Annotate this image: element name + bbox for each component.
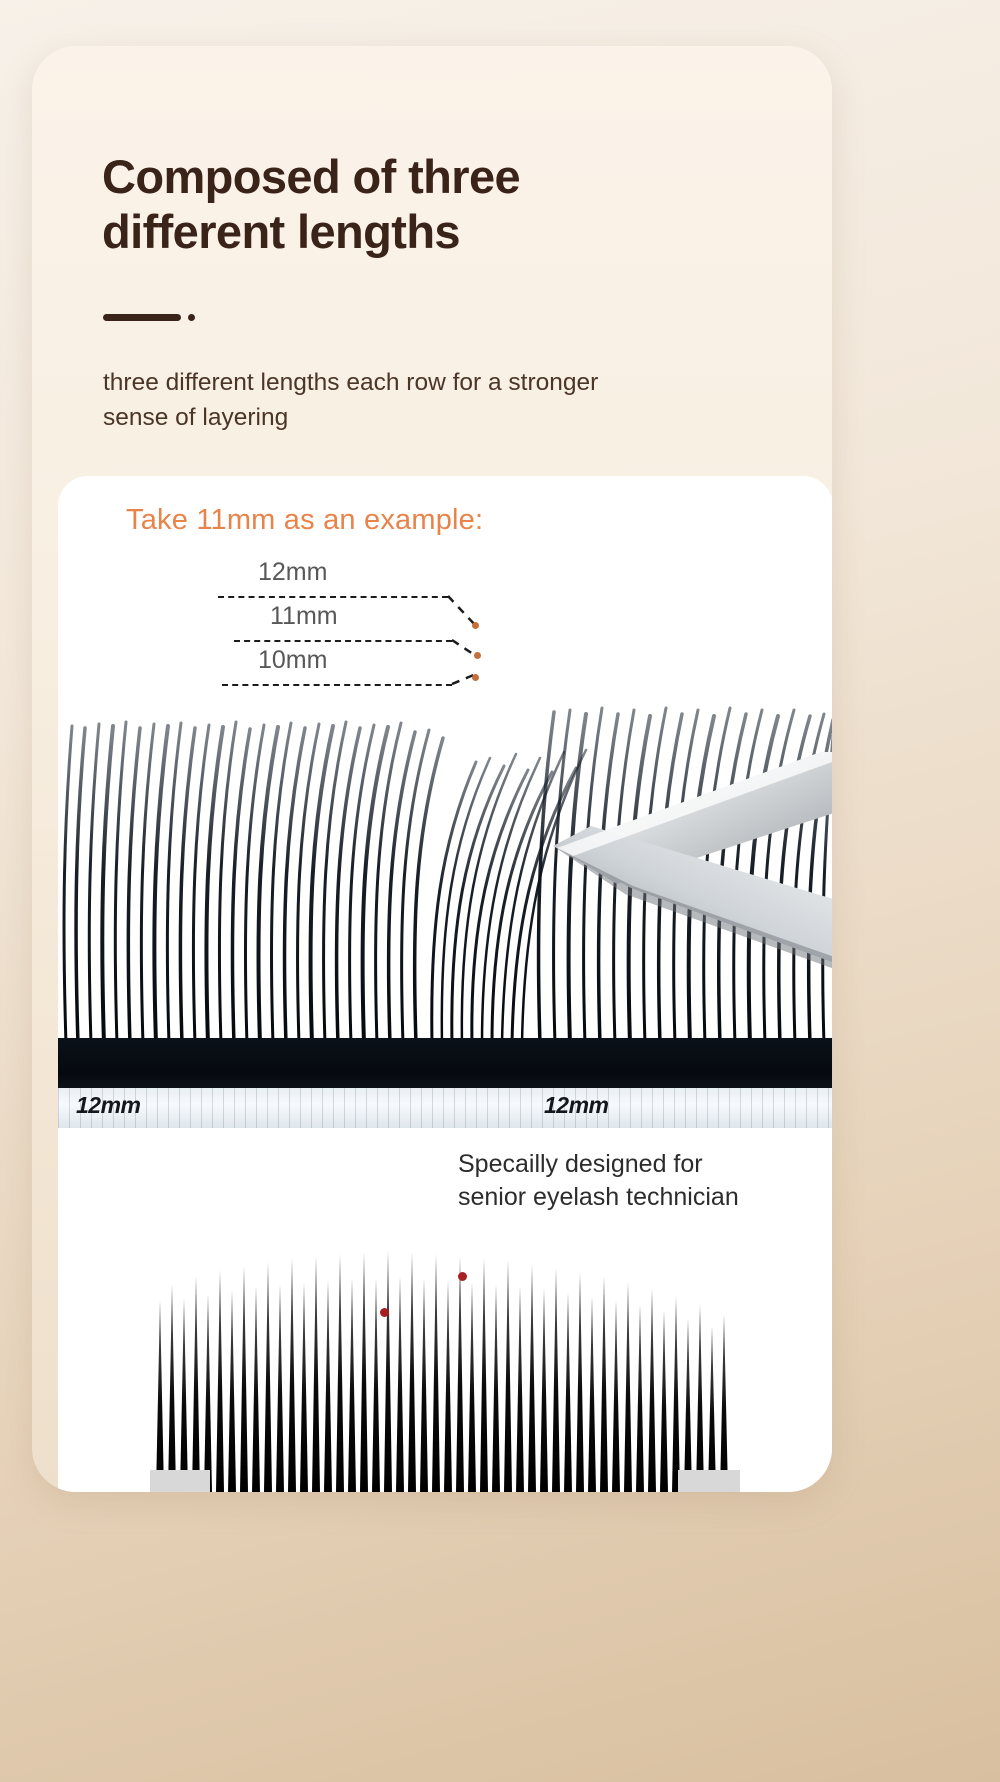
lash-marker-dot-1 — [380, 1308, 389, 1317]
measure-marker-dot-1 — [472, 622, 479, 629]
measure-marker-dot-2 — [474, 652, 481, 659]
measure-dash-10mm — [222, 684, 452, 686]
measure-connector-lines — [430, 582, 550, 722]
heading-line-1: Composed of three — [102, 150, 520, 203]
measurement-annotations: 12mm 11mm 10mm — [58, 562, 832, 702]
subtitle-text: three different lengths each row for a s… — [103, 366, 723, 436]
caption-line-1: Specailly designed for — [458, 1150, 703, 1178]
measure-label-12mm: 12mm — [258, 558, 327, 587]
ruler-label-left: 12mm — [76, 1092, 140, 1119]
measure-dash-11mm — [234, 640, 452, 642]
heading-divider — [103, 314, 195, 321]
heading-line-2: different lengths — [102, 205, 742, 260]
ruler-label-right: 12mm — [544, 1092, 608, 1119]
measure-dash-12mm — [218, 596, 448, 598]
caption-line-2: senior eyelash technician — [458, 1181, 808, 1214]
page-background: Composed of three different lengths thre… — [0, 0, 1000, 1782]
lash-macro-photo — [58, 666, 832, 1096]
tray-tab-right — [678, 1470, 740, 1492]
photo-caption: Specailly designed for senior eyelash te… — [458, 1148, 808, 1213]
divider-dot — [188, 314, 195, 321]
measure-label-10mm: 10mm — [258, 646, 327, 675]
ruler-band: 12mm 12mm — [58, 1088, 832, 1128]
lash-strip-photo — [58, 1236, 832, 1492]
photo-panel: Take 11mm as an example: 12mm 11mm 10mm — [58, 476, 832, 1492]
tray-tab-left — [150, 1470, 210, 1492]
example-label: Take 11mm as an example: — [126, 504, 483, 537]
measure-marker-dot-3 — [472, 674, 479, 681]
measure-label-11mm: 11mm — [270, 602, 338, 631]
subtitle-line-2: sense of layering — [103, 401, 723, 436]
page-title: Composed of three different lengths — [102, 150, 742, 259]
product-feature-card: Composed of three different lengths thre… — [32, 46, 832, 1492]
lash-marker-dot-2 — [458, 1272, 467, 1281]
tweezers-icon — [513, 752, 832, 1002]
subtitle-line-1: three different lengths each row for a s… — [103, 369, 598, 396]
lash-strip-illustration — [150, 1240, 740, 1492]
divider-bar — [103, 314, 181, 321]
